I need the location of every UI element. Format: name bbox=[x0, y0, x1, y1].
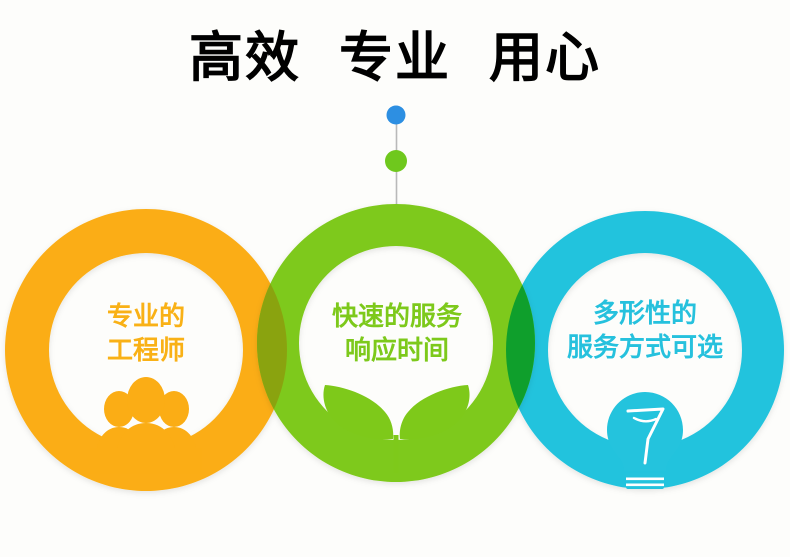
circle-label-left: 专业的 工程师 bbox=[48, 300, 244, 368]
circle-label-right: 多形性的 服务方式可选 bbox=[534, 297, 756, 365]
circle-label-middle-line-2: 响应时间 bbox=[292, 334, 502, 368]
circle-label-right-line-1: 多形性的 bbox=[534, 297, 756, 331]
circle-label-middle: 快速的服务 响应时间 bbox=[292, 300, 502, 368]
circle-label-left-line-1: 专业的 bbox=[48, 300, 244, 334]
circle-label-right-line-2: 服务方式可选 bbox=[534, 331, 756, 365]
infographic-canvas: 高效专业用心 bbox=[0, 0, 790, 557]
venn-diagram bbox=[0, 0, 790, 557]
circle-label-left-line-2: 工程师 bbox=[48, 334, 244, 368]
circle-label-middle-line-1: 快速的服务 bbox=[292, 300, 502, 334]
